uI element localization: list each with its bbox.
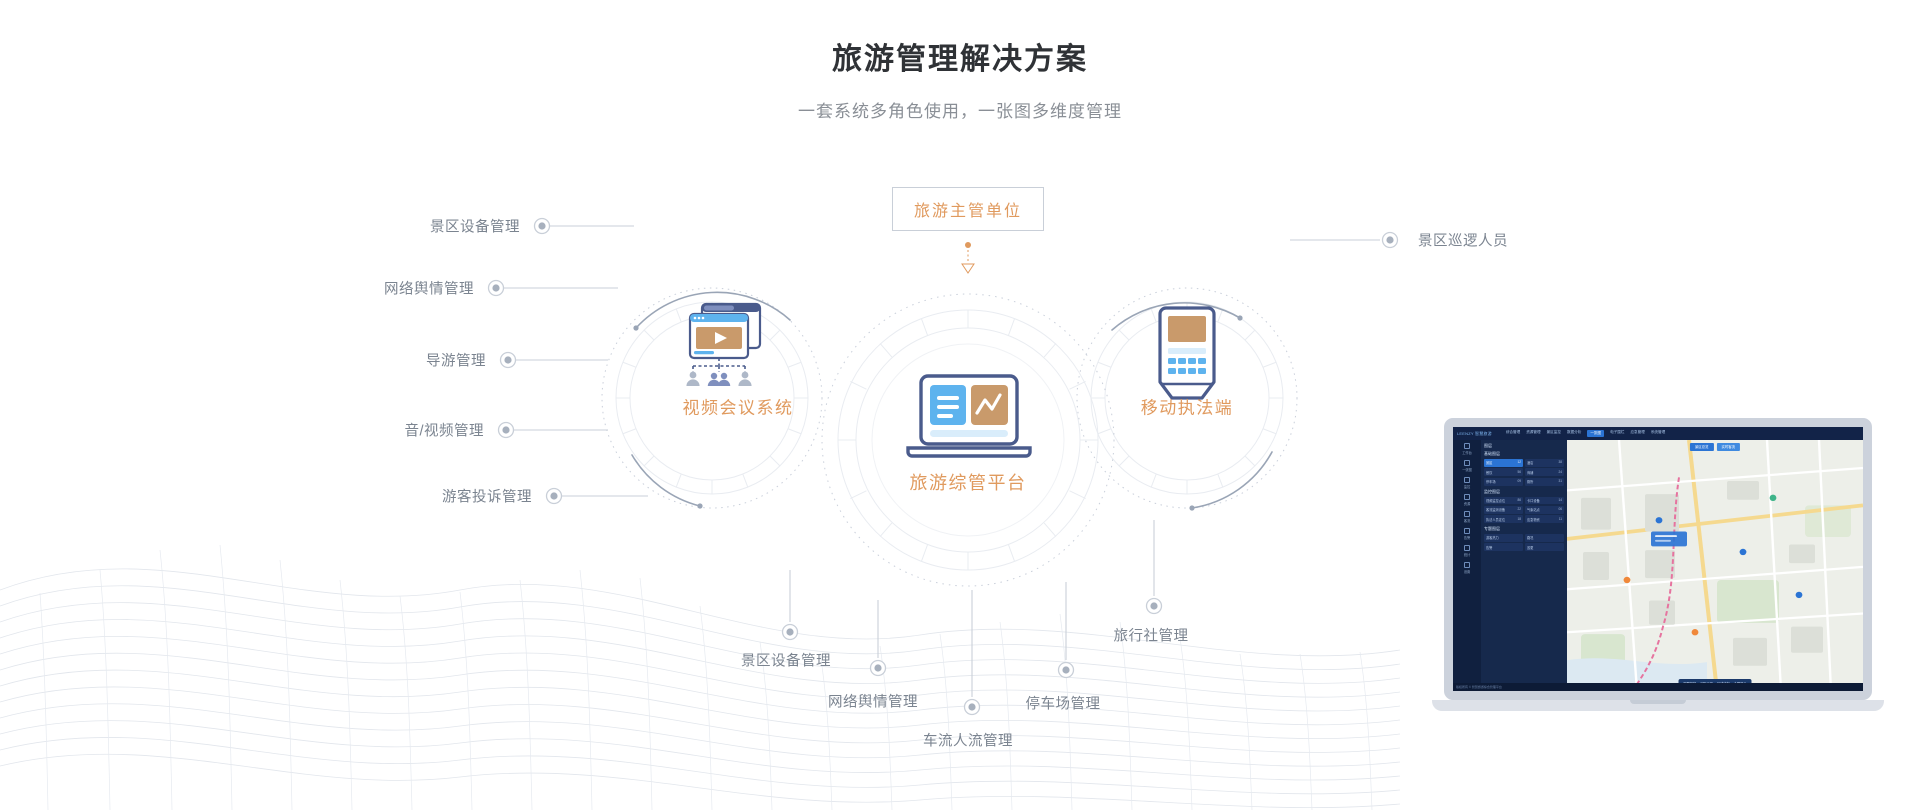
bottom-label-3[interactable]: 停车场管理 xyxy=(1026,693,1101,714)
dashboard-sidebar: 工作台 一张图 监控 资源 客流 告警 xyxy=(1453,440,1481,691)
sidebar-item-label: 设置 xyxy=(1464,569,1470,574)
dashboard-layer-panel: 图层 基础图层 景区 12 酒店 38 餐饮 5 xyxy=(1481,440,1567,691)
left-label-1[interactable]: 网络舆情管理 xyxy=(384,278,474,299)
dashboard-topbar: LEENZY 智慧旅游 综合管理 资源管理 景区监控 数据分析 一张图 电子围栏… xyxy=(1453,427,1863,440)
right-connector-dot-inner xyxy=(1386,236,1393,243)
left-label-4[interactable]: 游客投诉管理 xyxy=(442,486,532,507)
layer-chip[interactable]: 商铺 24 xyxy=(1525,468,1564,476)
layer-chip-label: 视频监控点位 xyxy=(1486,498,1505,503)
layer-chip-count: 09 xyxy=(1517,479,1521,484)
map-tab-0[interactable]: 景区总览 xyxy=(1690,443,1714,451)
layer-row: 停车场 09 厕所 31 xyxy=(1484,478,1564,486)
top-menu-3[interactable]: 数据分析 xyxy=(1567,430,1581,437)
sidebar-item-label: 工作台 xyxy=(1462,450,1472,455)
layer-chip-count: 56 xyxy=(1517,470,1521,475)
top-menu-1[interactable]: 资源管理 xyxy=(1526,430,1540,437)
layer-chip-label: 酒店 xyxy=(1527,460,1533,465)
layer-chip-count: 14 xyxy=(1558,498,1562,503)
layer-chip[interactable]: 巡更 xyxy=(1525,543,1564,551)
layer-chip[interactable]: 路况 xyxy=(1525,534,1564,542)
layer-chip[interactable]: 景区 12 xyxy=(1484,459,1523,467)
sidebar-item-0[interactable]: 工作台 xyxy=(1453,440,1481,457)
badge-connector xyxy=(962,242,974,273)
dashboard-top-menus: 综合管理 资源管理 景区监控 数据分析 一张图 电子围栏 应急管理 系统管理 xyxy=(1506,430,1665,437)
layer-chip-label: 商铺 xyxy=(1527,470,1533,475)
layer-group-0: 基础图层 景区 12 酒店 38 餐饮 56 xyxy=(1484,451,1564,486)
layer-chip-label: 卡口设备 xyxy=(1527,498,1540,503)
layer-chip-label: 路况 xyxy=(1527,535,1533,540)
layer-chip-count: 38 xyxy=(1558,460,1562,465)
solution-infographic: 旅游管理解决方案 一套系统多角色使用，一张图多维度管理 xyxy=(0,0,1920,810)
layer-group-1: 监控图层 视频监控点位 86 卡口设备 14 客流监测设备 22 xyxy=(1484,489,1564,524)
sidebar-item-5[interactable]: 告警 xyxy=(1453,525,1481,542)
layer-chip[interactable]: 应急物资 11 xyxy=(1525,515,1564,523)
layer-chip[interactable]: 酒店 38 xyxy=(1525,459,1564,467)
sidebar-item-3[interactable]: 资源 xyxy=(1453,491,1481,508)
layer-chip-label: 客流监测设备 xyxy=(1486,507,1505,512)
layer-chip-label: 厕所 xyxy=(1527,479,1533,484)
layer-panel-title: 图层 xyxy=(1484,443,1564,449)
left-label-3[interactable]: 音/视频管理 xyxy=(404,420,484,441)
layer-chip[interactable]: 告警 xyxy=(1484,543,1523,551)
laptop-mockup: LEENZY 智慧旅游 综合管理 资源管理 景区监控 数据分析 一张图 电子围栏… xyxy=(1432,418,1912,758)
dashboard-brand: LEENZY 智慧旅游 xyxy=(1453,431,1492,437)
map-icon xyxy=(1464,460,1470,466)
layer-row: 游客热力 路况 xyxy=(1484,534,1564,542)
sidebar-item-2[interactable]: 监控 xyxy=(1453,474,1481,491)
sidebar-item-label: 告警 xyxy=(1464,535,1470,540)
node-label-text: 视频会议系统 xyxy=(683,399,794,418)
grid-icon xyxy=(1464,443,1470,449)
layer-chip-count: 22 xyxy=(1517,507,1521,512)
map-tab-1[interactable]: 实时客流 xyxy=(1717,443,1741,451)
layer-chip-count: 18 xyxy=(1517,517,1521,522)
camera-icon xyxy=(1464,477,1470,483)
layer-row: 告警 巡更 xyxy=(1484,543,1564,551)
node-label-video-conference[interactable]: 视频会议系统 xyxy=(683,394,794,419)
dashboard-map[interactable]: 景区总览 实时客流 图层控制 测距工具 区域绘制 全屏显示 xyxy=(1567,440,1863,691)
bottom-label-4[interactable]: 旅行社管理 xyxy=(1114,625,1189,646)
bottom-connectors xyxy=(790,520,1154,697)
layer-chip-label: 停车场 xyxy=(1486,479,1496,484)
badge-tourism-authority[interactable]: 旅游主管单位 xyxy=(892,187,1044,231)
sidebar-item-label: 监控 xyxy=(1464,484,1470,489)
layer-row: 餐饮 56 商铺 24 xyxy=(1484,468,1564,476)
video-window-icon xyxy=(686,304,760,386)
alert-icon xyxy=(1464,528,1470,534)
layer-chip-label: 告警 xyxy=(1486,545,1492,550)
layer-chip[interactable]: 厕所 31 xyxy=(1525,478,1564,486)
top-menu-7[interactable]: 系统管理 xyxy=(1651,430,1665,437)
layer-chip-count: 31 xyxy=(1558,479,1562,484)
layer-chip-count: 24 xyxy=(1558,470,1562,475)
layer-chip-label: 巡更 xyxy=(1527,545,1533,550)
sidebar-item-label: 客流 xyxy=(1464,518,1470,523)
layer-group-title: 基础图层 xyxy=(1484,451,1564,457)
layer-chip-label: 气象站点 xyxy=(1527,507,1540,512)
layer-chip-label: 游客热力 xyxy=(1486,535,1499,540)
layer-group-title: 专题图层 xyxy=(1484,526,1564,532)
layer-chip-count: 12 xyxy=(1517,460,1521,465)
layer-chip[interactable]: 执法人员定位 18 xyxy=(1484,515,1523,523)
layer-chip-label: 餐饮 xyxy=(1486,470,1492,475)
layer-group-2: 专题图层 游客热力 路况 告警 巡更 xyxy=(1484,526,1564,551)
layer-chip-count: 86 xyxy=(1517,498,1521,503)
top-menu-5[interactable]: 电子围栏 xyxy=(1610,430,1624,437)
layer-group-title: 监控图层 xyxy=(1484,489,1564,495)
left-connector-dots xyxy=(489,219,562,504)
top-menu-2[interactable]: 景区监控 xyxy=(1547,430,1561,437)
node-label-mobile-enforcement[interactable]: 移动执法端 xyxy=(1141,394,1234,419)
sidebar-item-4[interactable]: 客流 xyxy=(1453,508,1481,525)
badge-label: 旅游主管单位 xyxy=(914,203,1022,220)
layer-chip[interactable]: 卡口设备 14 xyxy=(1525,497,1564,505)
left-connectors xyxy=(500,226,648,496)
node-label-text: 旅游综管平台 xyxy=(910,473,1027,493)
laptop-dashboard-icon xyxy=(908,376,1030,456)
bottom-label-0[interactable]: 景区设备管理 xyxy=(741,650,831,671)
layer-chip[interactable]: 气象站点 06 xyxy=(1525,506,1564,514)
left-label-0[interactable]: 景区设备管理 xyxy=(430,216,520,237)
top-menu-0[interactable]: 综合管理 xyxy=(1506,430,1520,437)
node-label-text: 移动执法端 xyxy=(1141,399,1234,418)
left-label-2[interactable]: 导游管理 xyxy=(426,350,486,371)
map-tabs: 景区总览 实时客流 xyxy=(1690,443,1740,451)
sidebar-item-label: 一张图 xyxy=(1462,467,1472,472)
layer-chip-count: 06 xyxy=(1558,507,1562,512)
sidebar-item-7[interactable]: 设置 xyxy=(1453,559,1481,576)
top-menu-6[interactable]: 应急管理 xyxy=(1630,430,1644,437)
layer-chip[interactable]: 视频监控点位 86 xyxy=(1484,497,1523,505)
layers-icon xyxy=(1464,494,1470,500)
sidebar-item-label: 统计 xyxy=(1464,552,1470,557)
sidebar-item-6[interactable]: 统计 xyxy=(1453,542,1481,559)
layer-chip[interactable]: 餐饮 56 xyxy=(1484,468,1523,476)
bottom-label-2[interactable]: 车流人流管理 xyxy=(923,730,1013,751)
layer-chip[interactable]: 停车场 09 xyxy=(1484,478,1523,486)
top-menu-4[interactable]: 一张图 xyxy=(1587,430,1604,437)
layer-chip-label: 执法人员定位 xyxy=(1486,517,1505,522)
layer-chip-count: 11 xyxy=(1559,517,1562,522)
layer-row: 景区 12 酒店 38 xyxy=(1484,459,1564,467)
layer-row: 视频监控点位 86 卡口设备 14 xyxy=(1484,497,1564,505)
node-label-tourism-platform[interactable]: 旅游综管平台 xyxy=(910,469,1027,495)
layer-row: 执法人员定位 18 应急物资 11 xyxy=(1484,515,1564,523)
layer-row: 客流监测设备 22 气象站点 06 xyxy=(1484,506,1564,514)
right-label-0[interactable]: 景区巡逻人员 xyxy=(1418,230,1508,251)
layer-chip-label: 景区 xyxy=(1486,460,1492,465)
laptop-notch xyxy=(1630,700,1686,704)
layer-chip-label: 应急物资 xyxy=(1527,517,1540,522)
users-icon xyxy=(1464,511,1470,517)
dashboard-footer: 版权所有 © 智慧旅游综合管理平台 xyxy=(1453,683,1863,691)
sidebar-item-label: 资源 xyxy=(1464,501,1470,506)
bottom-label-1[interactable]: 网络舆情管理 xyxy=(828,691,918,712)
gear-icon xyxy=(1464,562,1470,568)
laptop-screen: LEENZY 智慧旅游 综合管理 资源管理 景区监控 数据分析 一张图 电子围栏… xyxy=(1444,418,1872,700)
chart-icon xyxy=(1464,545,1470,551)
layer-chip[interactable]: 游客热力 xyxy=(1484,534,1523,542)
sidebar-item-1[interactable]: 一张图 xyxy=(1453,457,1481,474)
handheld-terminal-icon xyxy=(1160,308,1214,398)
map-canvas xyxy=(1567,440,1863,691)
layer-chip[interactable]: 客流监测设备 22 xyxy=(1484,506,1523,514)
